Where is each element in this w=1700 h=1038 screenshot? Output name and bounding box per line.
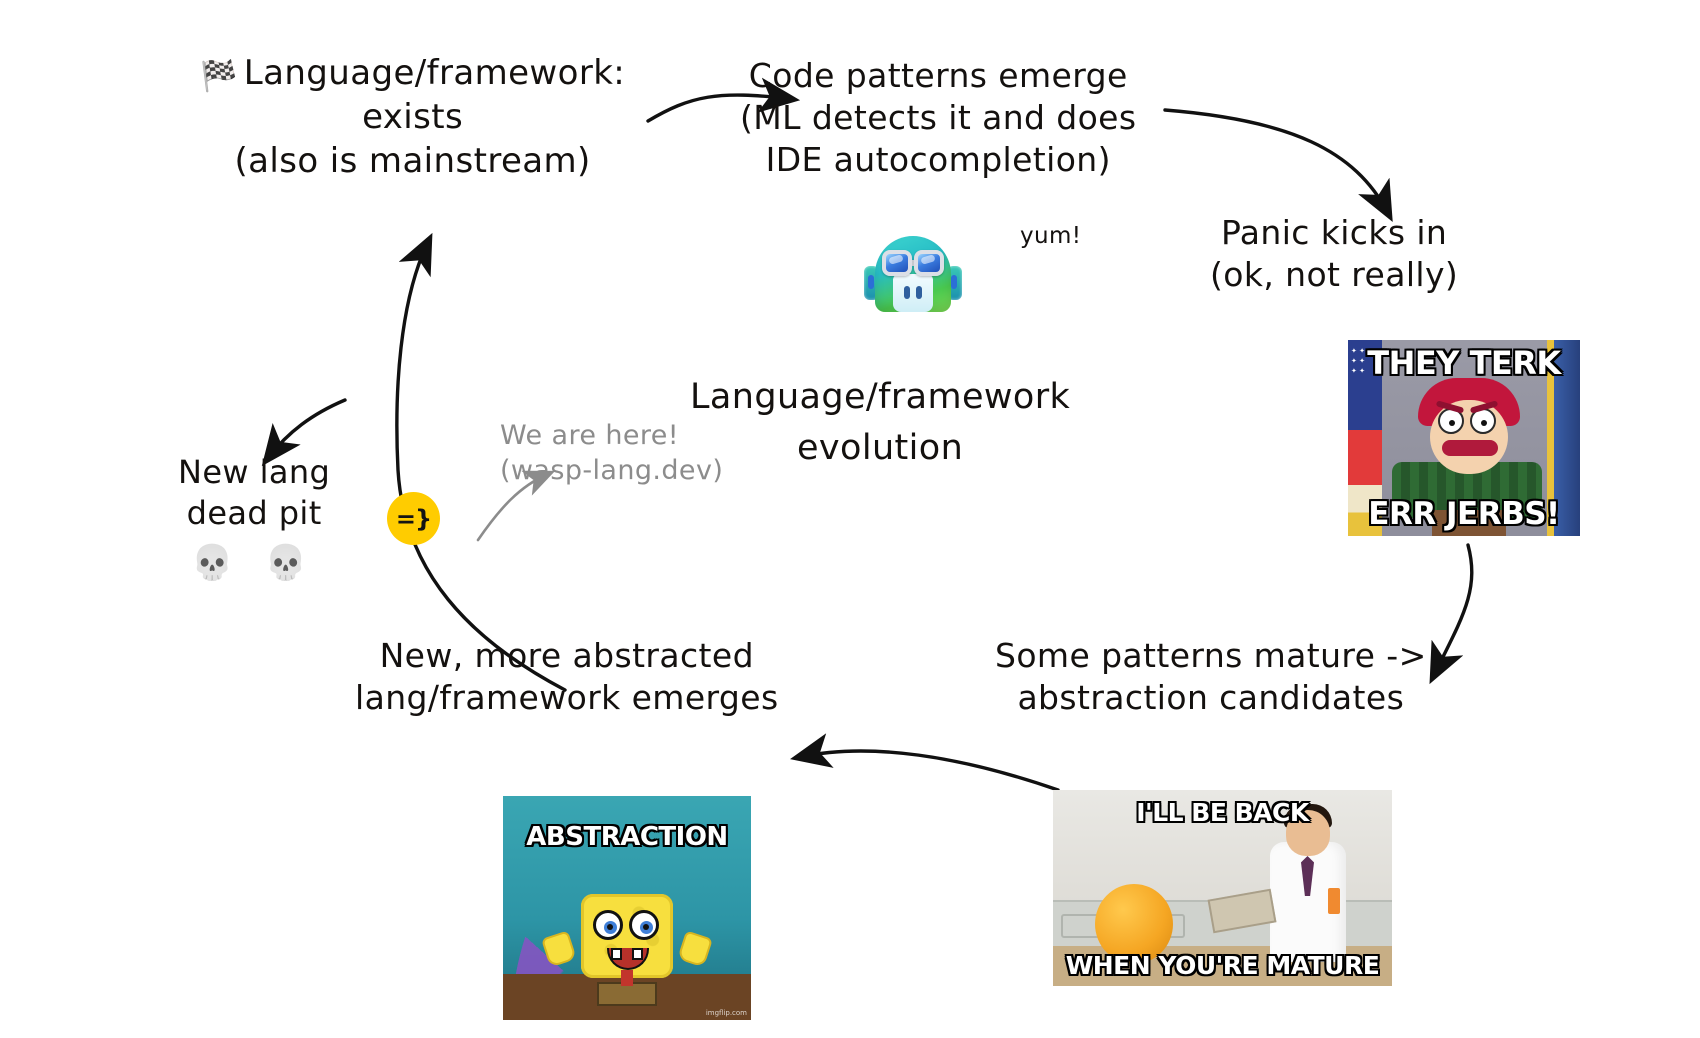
checkered-flag-icon: 🏁 <box>200 59 238 94</box>
robot-face <box>893 274 933 312</box>
meme-jerbs-caption-bottom: ERR JERBS! <box>1348 496 1580 532</box>
yum-label: yum! <box>1020 222 1081 251</box>
diagram-title: Language/framework evolution <box>690 372 1070 474</box>
wasp-logo-marker[interactable]: =} <box>387 492 440 545</box>
node-patterns-line3: IDE autocompletion) <box>766 140 1111 179</box>
meme-abstraction-caption-top: ABSTRACTION <box>503 822 751 852</box>
diagram-title-line2: evolution <box>797 428 963 468</box>
spongebob-character <box>581 894 673 1006</box>
diagram-title-line1: Language/framework <box>690 377 1070 417</box>
meme-watermark: imgflip.com <box>706 1009 747 1017</box>
node-start-line1: Language/framework: <box>244 53 625 93</box>
node-patterns-mature: Some patterns mature -> abstraction cand… <box>995 635 1427 719</box>
we-are-here-line2: (wasp-lang.dev) <box>500 455 723 486</box>
node-deadpit-line1: New lang <box>178 453 330 491</box>
arrow-mature-to-newlang <box>800 751 1058 790</box>
meme-they-terk-err-jerbs: THEY TERK ERR JERBS! <box>1348 340 1580 536</box>
node-panic-kicks-in: Panic kicks in (ok, not really) <box>1210 212 1458 296</box>
we-are-here-annotation: We are here! (wasp-lang.dev) <box>500 418 723 488</box>
arrow-patterns-to-panic <box>1165 110 1388 213</box>
node-start-line2: exists <box>362 97 463 137</box>
node-start-line3: (also is mainstream) <box>234 141 590 181</box>
node-newlang-line1: New, more abstracted <box>380 636 754 675</box>
node-patterns-line1: Code patterns emerge <box>749 56 1128 95</box>
id-badge-graphic <box>1328 888 1340 914</box>
arrow-panic-to-mature <box>1434 545 1472 675</box>
node-language-exists: 🏁Language/framework: exists (also is mai… <box>200 52 625 183</box>
node-new-lang-dead-pit: New lang dead pit 💀 💀 <box>178 452 330 585</box>
node-panic-line2: (ok, not really) <box>1210 255 1458 294</box>
meme-jerbs-caption-top: THEY TERK <box>1348 344 1580 382</box>
node-mature-line2: abstraction candidates <box>1017 678 1404 717</box>
robot-goggle-right <box>914 250 944 276</box>
meme-mature-caption-top: I'LL BE BACK <box>1053 798 1392 827</box>
we-are-here-line1: We are here! <box>500 420 679 451</box>
node-panic-line1: Panic kicks in <box>1221 213 1447 252</box>
south-park-character-face <box>1426 382 1512 474</box>
robot-head <box>875 236 951 312</box>
meme-mature-caption-bottom: WHEN YOU'RE MATURE <box>1053 951 1392 980</box>
robot-mascot-icon <box>864 228 962 320</box>
node-patterns-line2: (ML detects it and does <box>740 98 1136 137</box>
arrow-to-dead-pit <box>268 400 345 458</box>
node-deadpit-line2: dead pit <box>187 494 322 532</box>
meme-spongebob-abstraction: ABSTRACTION imgflip.com <box>503 796 751 1020</box>
node-code-patterns-emerge: Code patterns emerge (ML detects it and … <box>740 55 1136 182</box>
node-newlang-line2: lang/framework emerges <box>355 678 779 717</box>
meme-ill-be-back-when-youre-mature: I'LL BE BACK WHEN YOU'RE MATURE <box>1053 790 1392 986</box>
node-new-abstracted-lang: New, more abstracted lang/framework emer… <box>355 635 779 719</box>
robot-goggle-left <box>882 250 912 276</box>
skull-icons: 💀 💀 <box>178 542 330 586</box>
node-mature-line1: Some patterns mature -> <box>995 636 1427 675</box>
